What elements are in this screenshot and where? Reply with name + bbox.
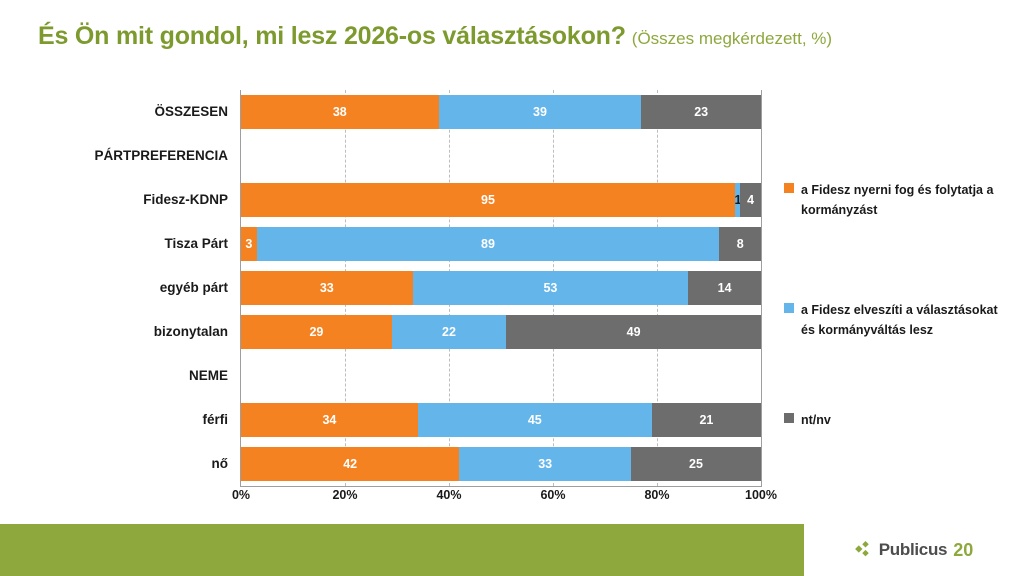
legend-item[interactable]: a Fidesz elveszíti a választásokat és ko… bbox=[784, 300, 1009, 340]
bar-row: 292249 bbox=[241, 310, 761, 354]
footer-logo-container: Publicus 20 bbox=[804, 524, 1024, 576]
x-axis-line bbox=[240, 486, 762, 487]
publicus-logo: Publicus 20 bbox=[855, 540, 973, 561]
category-label: PÁRTPREFERENCIA bbox=[94, 134, 228, 178]
bar-segment: 22 bbox=[392, 315, 506, 349]
title-main-text: És Ön mit gondol, mi lesz 2026-os válasz… bbox=[38, 22, 626, 50]
bar-value-label: 42 bbox=[241, 447, 459, 481]
bar-value-label: 39 bbox=[439, 95, 642, 129]
bar-segment: 8 bbox=[719, 227, 761, 261]
bar-value-label: 38 bbox=[241, 95, 439, 129]
legend-item[interactable]: a Fidesz nyerni fog és folytatja a kormá… bbox=[784, 180, 1009, 220]
bar-track: 383923 bbox=[241, 95, 761, 129]
group-header-row bbox=[241, 134, 761, 178]
category-label: egyéb párt bbox=[160, 266, 228, 310]
bar-row: 3898 bbox=[241, 222, 761, 266]
bar-row: 9514 bbox=[241, 178, 761, 222]
category-label: ÖSSZESEN bbox=[154, 90, 228, 134]
bar-row: 423325 bbox=[241, 442, 761, 486]
bar-value-label: 8 bbox=[719, 227, 761, 261]
bar-track: 9514 bbox=[241, 183, 761, 217]
category-label: Fidesz-KDNP bbox=[143, 178, 228, 222]
logo-anniversary-number: 20 bbox=[953, 540, 973, 561]
bar-value-label: 21 bbox=[652, 403, 761, 437]
bar-value-label: 14 bbox=[688, 271, 761, 305]
bar-segment: 3 bbox=[241, 227, 257, 261]
logo-diamond-icon bbox=[855, 541, 873, 559]
x-tick-label: 20% bbox=[332, 488, 357, 502]
legend-label: nt/nv bbox=[801, 410, 831, 430]
legend-swatch-icon bbox=[784, 183, 794, 193]
bar-track: 292249 bbox=[241, 315, 761, 349]
x-tick-label: 0% bbox=[232, 488, 250, 502]
bar-value-label: 95 bbox=[241, 183, 735, 217]
group-header-row bbox=[241, 354, 761, 398]
bar-value-label: 34 bbox=[241, 403, 418, 437]
footer-band: Publicus 20 bbox=[0, 524, 1024, 576]
bar-segment: 21 bbox=[652, 403, 761, 437]
bar-segment: 33 bbox=[459, 447, 631, 481]
slide-canvas: És Ön mit gondol, mi lesz 2026-os válasz… bbox=[0, 0, 1024, 576]
title-subtitle-text: (Összes megkérdezett, %) bbox=[632, 29, 832, 48]
bar-segment: 4 bbox=[740, 183, 761, 217]
bar-row: 344521 bbox=[241, 398, 761, 442]
bar-segment: 53 bbox=[413, 271, 689, 305]
stacked-bar-chart: ÖSSZESENPÁRTPREFERENCIAFidesz-KDNPTisza … bbox=[0, 76, 1024, 506]
category-label: bizonytalan bbox=[154, 310, 228, 354]
bar-segment: 29 bbox=[241, 315, 392, 349]
category-label: NEME bbox=[189, 354, 228, 398]
legend-swatch-icon bbox=[784, 303, 794, 313]
bar-segment: 38 bbox=[241, 95, 439, 129]
bar-segment: 49 bbox=[506, 315, 761, 349]
bar-segment: 33 bbox=[241, 271, 413, 305]
category-label: Tisza Párt bbox=[164, 222, 228, 266]
bar-segment: 39 bbox=[439, 95, 642, 129]
bar-segment: 95 bbox=[241, 183, 735, 217]
x-tick-label: 60% bbox=[540, 488, 565, 502]
legend-label: a Fidesz nyerni fog és folytatja a kormá… bbox=[801, 180, 1009, 220]
category-label: nő bbox=[212, 442, 229, 486]
category-label: férfi bbox=[202, 398, 228, 442]
bar-value-label: 25 bbox=[631, 447, 761, 481]
bar-segment: 42 bbox=[241, 447, 459, 481]
bar-value-label: 89 bbox=[257, 227, 720, 261]
bar-segment: 45 bbox=[418, 403, 652, 437]
bar-value-label: 33 bbox=[241, 271, 413, 305]
bar-value-label: 4 bbox=[740, 183, 761, 217]
bar-segment: 25 bbox=[631, 447, 761, 481]
bar-value-label: 22 bbox=[392, 315, 506, 349]
bar-value-label: 23 bbox=[641, 95, 761, 129]
legend-item[interactable]: nt/nv bbox=[784, 410, 1009, 430]
bar-value-label: 45 bbox=[418, 403, 652, 437]
bar-value-label: 53 bbox=[413, 271, 689, 305]
page-title: És Ön mit gondol, mi lesz 2026-os válasz… bbox=[38, 22, 998, 51]
bar-track: 3898 bbox=[241, 227, 761, 261]
bar-segment: 14 bbox=[688, 271, 761, 305]
bar-track: 344521 bbox=[241, 403, 761, 437]
x-tick-label: 80% bbox=[644, 488, 669, 502]
bar-value-label: 33 bbox=[459, 447, 631, 481]
x-tick-label: 100% bbox=[745, 488, 777, 502]
legend-swatch-icon bbox=[784, 413, 794, 423]
category-axis-labels: ÖSSZESENPÁRTPREFERENCIAFidesz-KDNPTisza … bbox=[0, 90, 236, 486]
bar-row: 335314 bbox=[241, 266, 761, 310]
x-tick-label: 40% bbox=[436, 488, 461, 502]
x-axis-tick-labels: 0%20%40%60%80%100% bbox=[240, 488, 762, 512]
legend-label: a Fidesz elveszíti a választásokat és ko… bbox=[801, 300, 1009, 340]
bar-track: 335314 bbox=[241, 271, 761, 305]
bar-value-label: 49 bbox=[506, 315, 761, 349]
bar-segment: 89 bbox=[257, 227, 720, 261]
plot-area: 38392395143898335314292249344521423325 bbox=[240, 90, 762, 486]
bar-value-label: 3 bbox=[241, 227, 257, 261]
logo-wordmark: Publicus bbox=[879, 540, 947, 560]
bar-value-label: 29 bbox=[241, 315, 392, 349]
bar-row: 383923 bbox=[241, 90, 761, 134]
bar-segment: 23 bbox=[641, 95, 761, 129]
bar-segment: 34 bbox=[241, 403, 418, 437]
bar-track: 423325 bbox=[241, 447, 761, 481]
